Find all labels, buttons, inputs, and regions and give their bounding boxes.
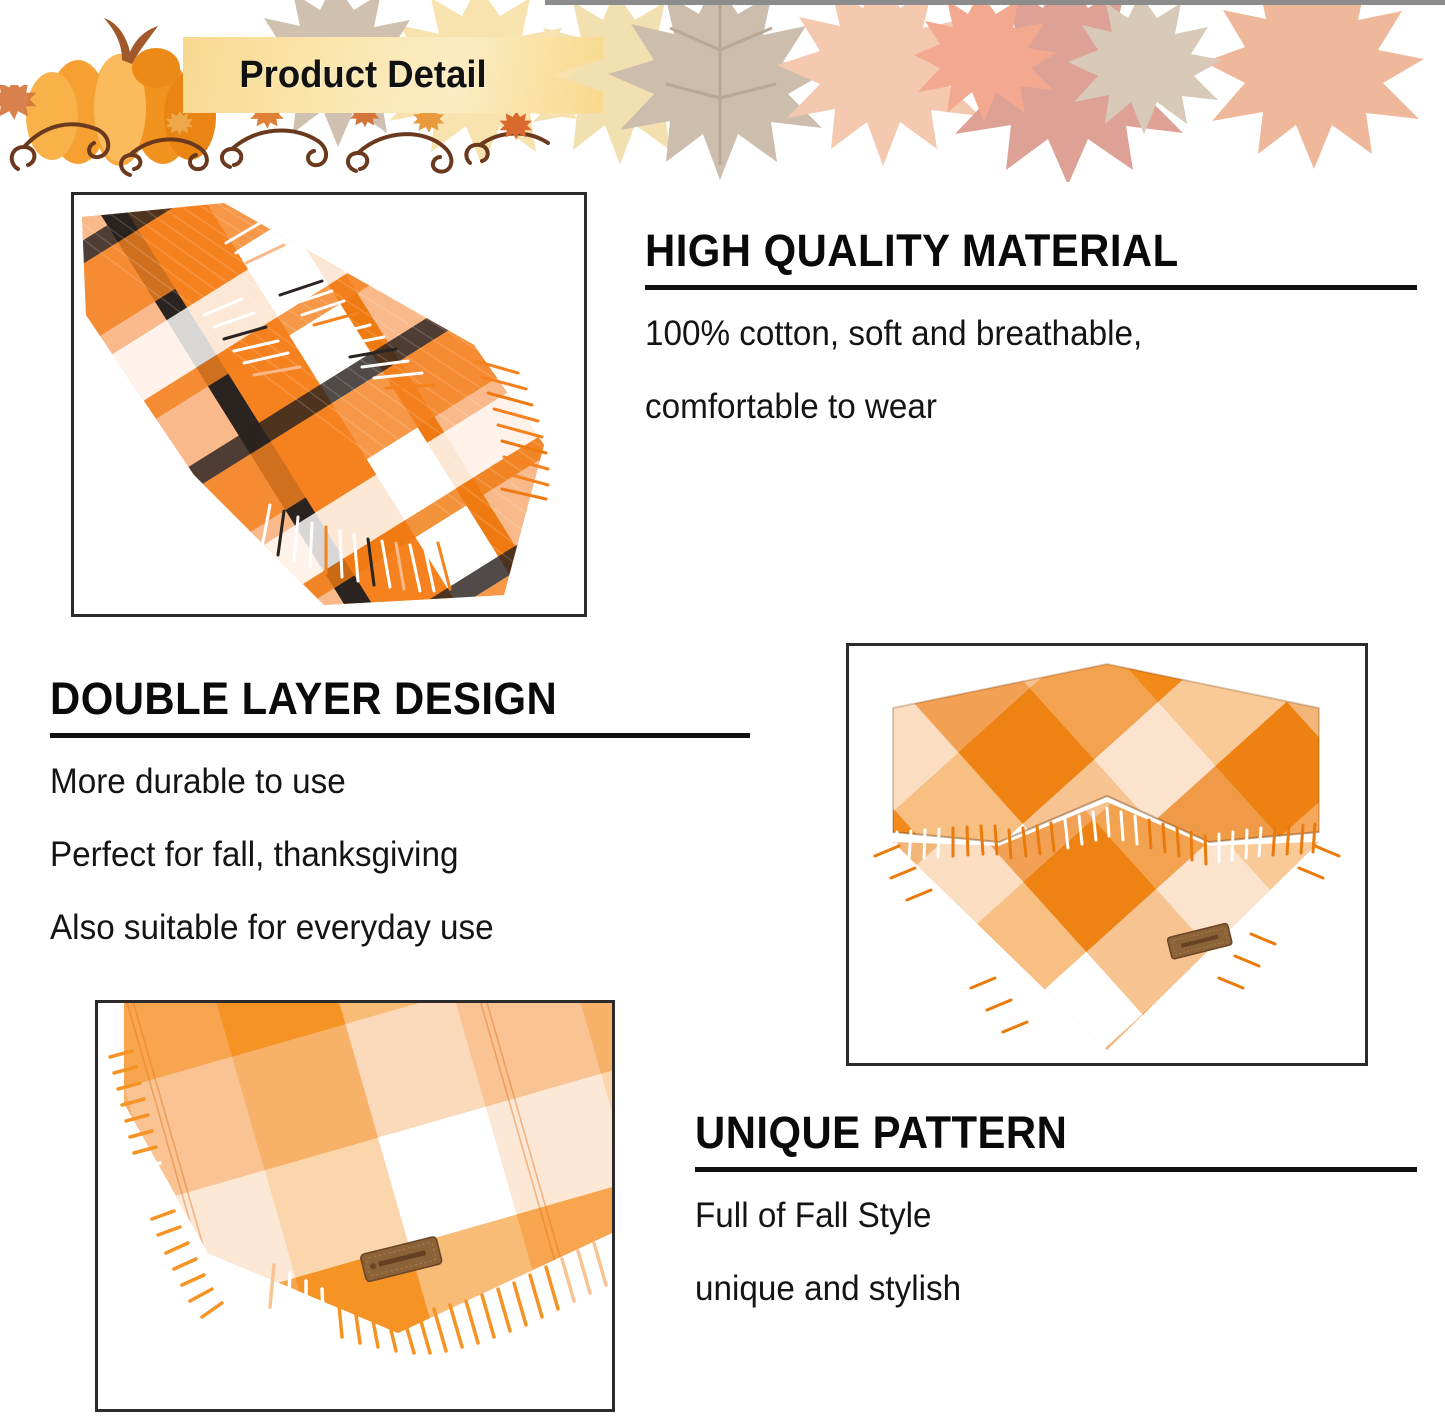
feature-divider <box>50 733 750 738</box>
feature-line: comfortable to wear <box>645 389 1378 424</box>
feature-line: unique and stylish <box>695 1271 1381 1306</box>
maple-leaf-icon <box>905 0 1065 122</box>
feature-title: UNIQUE PATTERN <box>695 1110 1366 1156</box>
feature-high-quality-material: HIGH QUALITY MATERIAL 100% cotton, soft … <box>645 228 1417 424</box>
feature-line: Also suitable for everyday use <box>50 910 715 945</box>
feature-line: Full of Fall Style <box>695 1198 1381 1233</box>
folded-bandana-photo <box>846 643 1368 1066</box>
feature-body: More durable to use Perfect for fall, th… <box>50 764 750 945</box>
closeup-fabric-illustration <box>74 195 584 614</box>
page-title: Product Detail <box>190 37 536 113</box>
feature-title: HIGH QUALITY MATERIAL <box>645 228 1363 274</box>
feature-line: More durable to use <box>50 764 715 799</box>
autumn-header-banner: Product Detail <box>0 0 1445 182</box>
maple-leaf-icon <box>1060 0 1230 134</box>
product-detail-ribbon: Product Detail <box>183 37 603 113</box>
feature-divider <box>695 1167 1417 1172</box>
feature-divider <box>645 285 1417 290</box>
feature-unique-pattern: UNIQUE PATTERN Full of Fall Style unique… <box>695 1110 1417 1306</box>
plaid-scarf-closeup-photo <box>71 192 587 617</box>
feature-line: 100% cotton, soft and breathable, <box>645 316 1378 351</box>
feature-title: DOUBLE LAYER DESIGN <box>50 676 701 722</box>
product-detail-page: Product Detail <box>0 0 1445 1427</box>
feature-double-layer-design: DOUBLE LAYER DESIGN More durable to use … <box>50 676 750 945</box>
flat-fabric-illustration <box>98 1003 612 1409</box>
feature-line: Perfect for fall, thanksgiving <box>50 837 715 872</box>
banner-top-rule <box>545 0 1445 5</box>
feature-body: 100% cotton, soft and breathable, comfor… <box>645 316 1417 424</box>
feature-body: Full of Fall Style unique and stylish <box>695 1198 1417 1306</box>
folded-bandana-illustration <box>849 646 1365 1063</box>
flat-plaid-fabric-photo <box>95 1000 615 1412</box>
